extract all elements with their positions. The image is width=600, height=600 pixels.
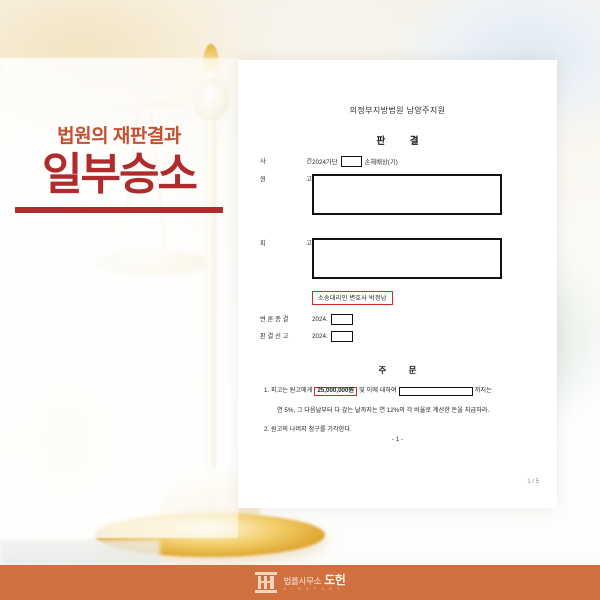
order-body: 1. 피고는 원고에게 25,000,000원 및 이에 대하여 까지는 연 5… [260, 387, 535, 433]
defendant-label-char-1: 피 [260, 238, 266, 279]
headline-block: 법원의 재판결과 일부승소 [0, 126, 238, 213]
closing-date-row: 변 론 종 결 2024. [260, 314, 535, 325]
case-number-prefix: 2024가단 [312, 157, 338, 166]
document-title: 판 결 [260, 133, 535, 147]
closing-date-value: 2024. [312, 314, 535, 325]
court-name: 의정부지방법원 남양주지원 [260, 105, 535, 116]
order-item-1-suffix: 까지는 [475, 388, 492, 394]
headline-subtitle: 법원의 재판결과 [0, 126, 238, 149]
case-type: 손해배상(기) [365, 157, 398, 166]
footer-firm-name: 도헌 [324, 573, 345, 587]
headline-underline [15, 207, 223, 213]
desk-edge [0, 540, 160, 566]
case-row: 사 건 2024가단 손해배상(기) [260, 156, 535, 167]
sentencing-date-row: 판 결 선 고 2024. [260, 331, 535, 342]
sentencing-date-redaction-box [331, 331, 353, 342]
plaintiff-label-char-1: 원 [260, 174, 266, 215]
defendant-redaction-box [312, 238, 502, 279]
defendant-label: 피 고 [260, 238, 312, 279]
footer-logo-text: 법률사무소도헌 K I M & P A R K [284, 574, 346, 592]
sentencing-date-year: 2024. [312, 333, 328, 340]
order-item-2: 2. 원고의 나머지 청구를 기각한다. [264, 427, 535, 433]
closing-date-label: 변 론 종 결 [260, 314, 312, 323]
order-item-1-prefix: 1. 피고는 원고에게 [264, 388, 312, 394]
order-item-1-line-2: 연 5%, 그 다음날부터 다 갚는 날까지는 연 12%의 각 비율로 계산한… [277, 408, 535, 414]
case-value: 2024가단 손해배상(기) [312, 156, 535, 167]
page-number-mark: - 1 - [238, 436, 557, 443]
plaintiff-label: 원 고 [260, 174, 312, 215]
order-section-title: 주 문 [260, 364, 535, 376]
sheet-number: 1 / 5 [527, 479, 539, 485]
footer-firm-romanization: K I M & P A R K [284, 588, 346, 592]
order-item-1-middle: 및 이에 대하여 [359, 388, 397, 394]
attorney-highlight: 소송대리인 변호사 박정남 [312, 291, 393, 305]
footer-firm-line: 법률사무소도헌 [284, 574, 346, 586]
case-label: 사 건 [260, 156, 312, 165]
sentencing-date-label: 판 결 선 고 [260, 331, 312, 340]
date-rows: 변 론 종 결 2024. 판 결 선 고 2024. [260, 314, 535, 342]
judgment-document-page: 의정부지방법원 남양주지원 판 결 사 건 2024가단 손해배상(기) 원 고 [238, 60, 557, 508]
order-amount-highlight: 25,000,000원 [314, 387, 357, 395]
case-number-redaction-box [341, 156, 362, 167]
plaintiff-redaction-box [312, 174, 502, 215]
sentencing-date-value: 2024. [312, 331, 535, 342]
defendant-row: 피 고 [260, 238, 535, 279]
footer-bar: 법률사무소도헌 K I M & P A R K [0, 565, 600, 600]
order-date-redaction-box [399, 387, 473, 396]
case-label-char-1: 사 [260, 156, 266, 165]
footer-firm-prefix: 법률사무소 [284, 576, 322, 586]
closing-date-redaction-box [331, 314, 353, 325]
headline-title: 일부승소 [0, 152, 238, 198]
closing-date-year: 2024. [312, 316, 328, 323]
attorney-row: 소송대리인 변호사 박정남 [312, 287, 535, 305]
plaintiff-row: 원 고 [260, 174, 535, 215]
order-item-1-line-1: 1. 피고는 원고에게 25,000,000원 및 이에 대하여 까지는 [264, 387, 535, 396]
pillar-logo-icon [255, 572, 277, 593]
